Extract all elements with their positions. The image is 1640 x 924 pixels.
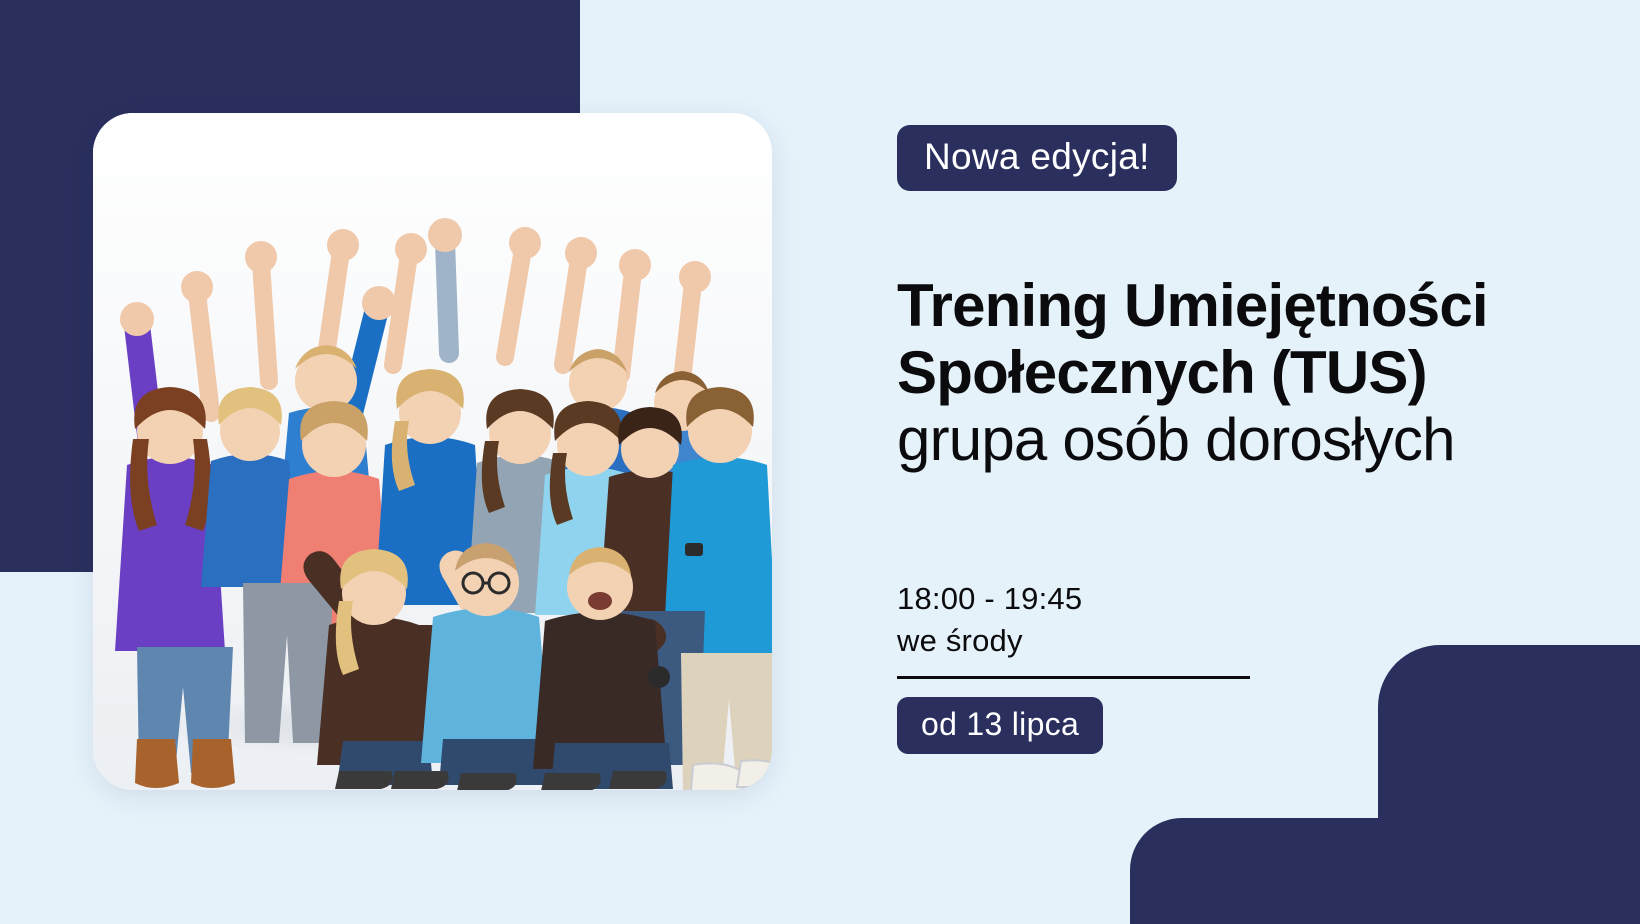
badge-start-date: od 13 lipca [897,697,1103,754]
headline-line-3: grupa osób dorosłych [897,406,1597,473]
headline-line-2: Społecznych (TUS) [897,339,1597,406]
photo-card [93,113,772,790]
headline-line-1: Trening Umiejętności [897,272,1597,339]
poster-canvas: Nowa edycja! Trening Umiejętności Społec… [0,0,1640,924]
schedule-block: 18:00 - 19:45 we środy [897,578,1082,662]
decorative-block-bottom-right-lower [1130,818,1640,924]
schedule-day: we środy [897,620,1082,662]
group-photo-illustration [93,113,772,790]
schedule-time: 18:00 - 19:45 [897,578,1082,620]
divider-rule [897,676,1250,679]
page-title: Trening Umiejętności Społecznych (TUS) g… [897,272,1597,473]
badge-new-edition: Nowa edycja! [897,125,1177,191]
group-photo [93,113,772,790]
